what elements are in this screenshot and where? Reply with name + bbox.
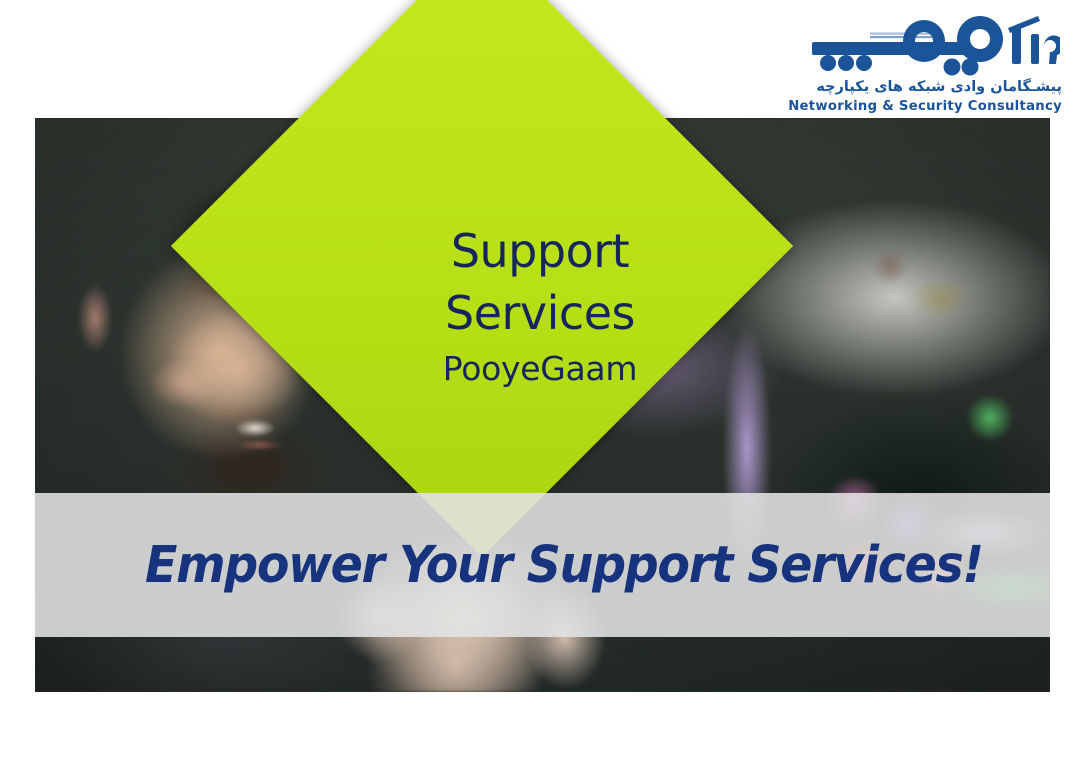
tagline-text: Empower Your Support Services! bbox=[145, 536, 983, 595]
pooyegaam-wordmark-logo bbox=[812, 12, 1060, 78]
brand-logo-block: پیشـگامان وادی شبکه های یکپارچه Networki… bbox=[702, 12, 1062, 114]
logo-tagline-farsi: پیشـگامان وادی شبکه های یکپارچه bbox=[702, 80, 1062, 95]
logo-tagline-english: Networking & Security Consultancy bbox=[702, 100, 1062, 113]
tagline-band: Empower Your Support Services! bbox=[35, 493, 1050, 637]
